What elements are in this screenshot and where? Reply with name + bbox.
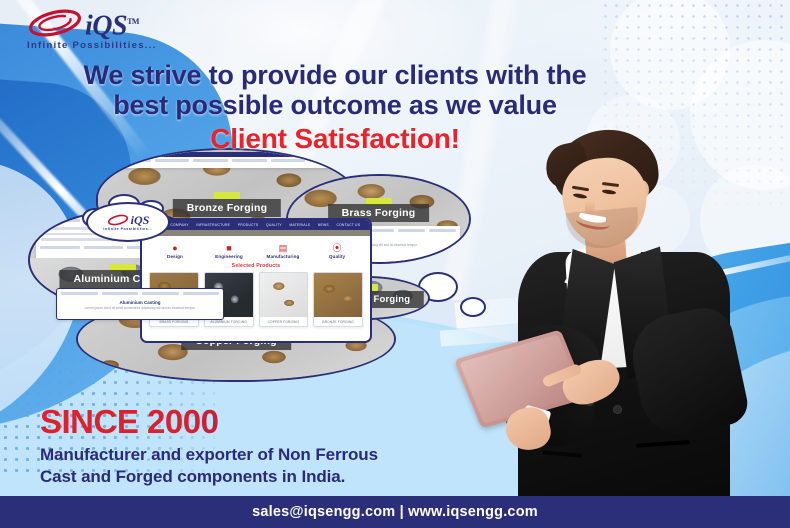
nav-item[interactable]: QUALITY: [266, 223, 282, 227]
product-card[interactable]: BRONZE FORGING: [313, 272, 363, 327]
since-description-line-2: Cast and Forged components in India.: [40, 466, 560, 488]
suit-button: [614, 406, 621, 413]
promotional-poster: iQSTM Infinite Possibilities... We striv…: [0, 0, 790, 528]
service-item-quality[interactable]: ⦿ Quality: [314, 243, 360, 259]
brand-name: iQS: [131, 214, 150, 226]
brand-name: iQS: [85, 10, 127, 41]
product-label: COPPER FORGING: [260, 317, 308, 326]
nav-item[interactable]: MATERIALS: [290, 223, 311, 227]
service-item-manufacturing[interactable]: ▤ Manufacturing: [260, 243, 306, 259]
logo-cloud-bubble: iQS Infinite Possibilities...: [80, 194, 176, 250]
nav-item[interactable]: NEWS: [318, 223, 329, 227]
footer-contact[interactable]: sales@iqsengg.com | www.iqsengg.com: [252, 504, 538, 520]
panel-title-aluminium-casting: Aluminium Casting: [62, 300, 218, 305]
brand-logo[interactable]: iQSTM Infinite Possibilities...: [27, 8, 192, 54]
check-seal-icon: ⦿: [314, 243, 360, 253]
service-label: Design: [152, 254, 198, 259]
headline-line-1: We strive to provide our clients with th…: [52, 60, 618, 90]
product-label: BRONZE FORGING: [314, 317, 362, 326]
headline-line-2: best possible outcome as we value: [52, 90, 618, 120]
nav-item[interactable]: INFRASTRUCTURE: [196, 223, 230, 227]
lobe-badge: [214, 192, 240, 199]
mini-site-aluminium-casting-panel: Aluminium Casting Lorem ipsum dolor sit …: [56, 288, 224, 320]
factory-icon: ▤: [260, 243, 306, 253]
footer-bar: sales@iqsengg.com | www.iqsengg.com: [0, 496, 790, 528]
panel-body: Lorem ipsum dolor sit amet consectetur a…: [62, 306, 218, 311]
mockup-section-title: Selected Products: [142, 263, 370, 269]
since-year: SINCE 2000: [40, 404, 560, 440]
swoosh-ellipse-icon: [107, 214, 129, 226]
since-block: SINCE 2000 Manufacturer and exporter of …: [40, 404, 560, 488]
nav-item[interactable]: CONTACT US: [336, 223, 360, 227]
service-item-engineering[interactable]: ■ Engineering: [206, 243, 252, 259]
trademark-symbol: TM: [127, 17, 139, 26]
product-image: [314, 273, 362, 317]
brand-tagline: Infinite Possibilities...: [103, 227, 152, 231]
headline-accent: Client Satisfaction!: [52, 122, 618, 155]
mockup-top-nav[interactable]: HOME COMPANY INFRASTRUCTURE PRODUCTS QUA…: [142, 220, 370, 230]
gear-chart-icon: ■: [206, 243, 252, 253]
headline-block: We strive to provide our clients with th…: [52, 60, 618, 155]
lobe-caption-bronze: Bronze Forging: [173, 199, 281, 217]
service-label: Quality: [314, 254, 360, 259]
thought-bubble-collage: Bronze Forging Brass Forging Brass Forgi…: [28, 148, 468, 363]
nav-item[interactable]: PRODUCTS: [238, 223, 259, 227]
since-description-line-1: Manufacturer and exporter of Non Ferrous: [40, 444, 560, 466]
service-label: Engineering: [206, 254, 252, 259]
swoosh-ellipse-icon: [27, 8, 83, 38]
brand-tagline: Infinite Possibilities...: [27, 40, 192, 51]
mockup-services-row: ● Design ■ Engineering ▤ Manufacturing ⦿…: [142, 236, 370, 262]
product-image: [260, 273, 308, 317]
product-card[interactable]: COPPER FORGING: [259, 272, 309, 327]
service-label: Manufacturing: [260, 254, 306, 259]
